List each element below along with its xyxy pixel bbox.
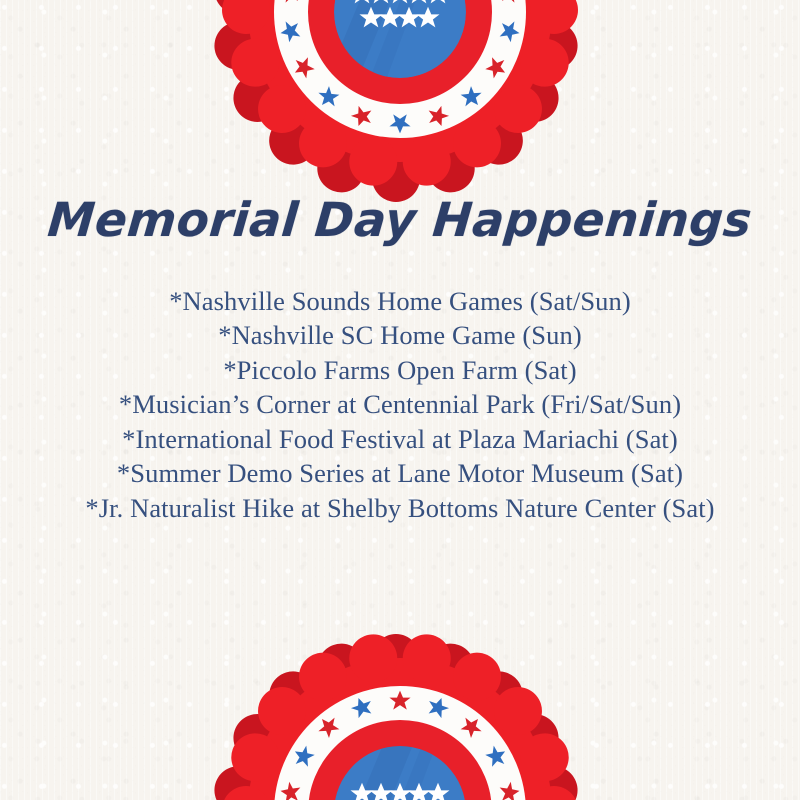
list-item: *Musician’s Corner at Centennial Park (F…	[0, 387, 800, 422]
list-item: *Piccolo Farms Open Farm (Sat)	[0, 353, 800, 388]
page-title: Memorial Day Happenings	[46, 196, 754, 246]
list-item: *Summer Demo Series at Lane Motor Museum…	[0, 456, 800, 491]
list-item: *Nashville SC Home Game (Sun)	[0, 318, 800, 353]
happenings-list: *Nashville Sounds Home Games (Sat/Sun) *…	[0, 284, 800, 526]
list-item: *Jr. Naturalist Hike at Shelby Bottoms N…	[0, 491, 800, 526]
list-item: *Nashville Sounds Home Games (Sat/Sun)	[0, 284, 800, 319]
poster-content: Memorial Day Happenings *Nashville Sound…	[0, 0, 800, 800]
list-item: *International Food Festival at Plaza Ma…	[0, 422, 800, 457]
